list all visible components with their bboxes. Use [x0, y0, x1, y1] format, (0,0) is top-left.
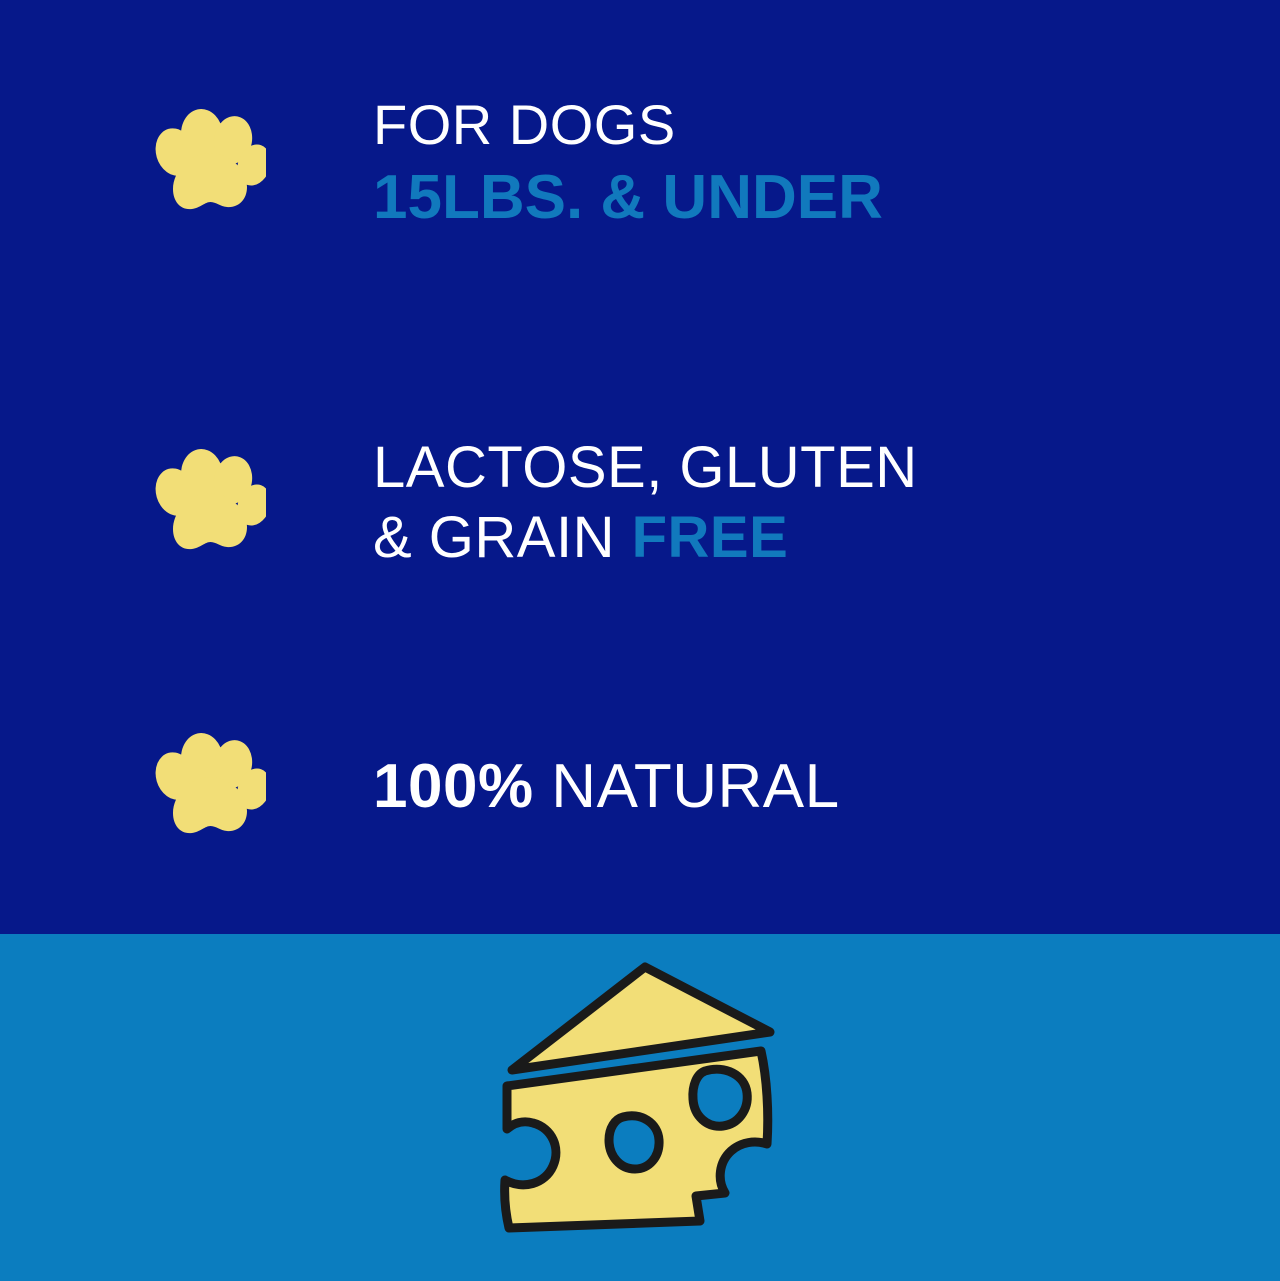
benefit-row-free-from: LACTOSE, GLUTEN & GRAIN FREE [0, 418, 1280, 588]
benefit-1-line-2: 15LBS. & UNDER [373, 167, 1280, 229]
benefit-row-for-dogs: FOR DOGS 15LBS. & UNDER [0, 78, 1280, 248]
paw-cell-2 [0, 447, 373, 560]
benefit-text-2: LACTOSE, GLUTEN & GRAIN FREE [373, 439, 1280, 567]
paw-cell-3 [0, 731, 373, 844]
product-feature-panel: FOR DOGS 15LBS. & UNDER LACTOSE, GLUTEN … [0, 0, 1280, 1281]
benefit-text-1: FOR DOGS 15LBS. & UNDER [373, 97, 1280, 229]
paw-print-icon [148, 107, 266, 220]
benefit-text-3: 100% NATURAL [373, 756, 1280, 818]
benefit-2-line-2: & GRAIN FREE [373, 509, 1280, 567]
benefit-1-line-1: FOR DOGS [373, 97, 1280, 153]
benefit-row-natural: 100% NATURAL [0, 722, 1280, 852]
paw-cell-1 [0, 107, 373, 220]
benefit-2-line-1: LACTOSE, GLUTEN [373, 439, 1280, 497]
paw-print-icon [148, 731, 266, 844]
benefit-2-line-2-prefix: & GRAIN [373, 505, 632, 570]
paw-print-icon [148, 447, 266, 560]
cheese-wedge-icon [495, 958, 785, 1250]
benefit-3-rest: NATURAL [534, 752, 840, 821]
benefit-3-line-1: 100% NATURAL [373, 756, 1280, 818]
benefit-3-bold: 100% [373, 752, 534, 821]
cheese-wedge-illustration [495, 958, 785, 1250]
benefit-2-line-2-accent: FREE [632, 505, 789, 570]
